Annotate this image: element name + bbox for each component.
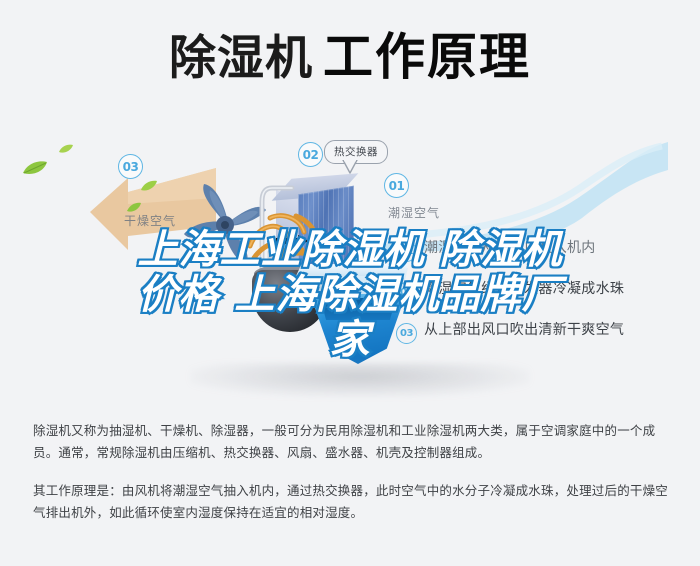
step-text: 潮湿空气经过蒸发器冷凝成水珠 xyxy=(424,281,624,299)
airflow-direction-arrow-icon xyxy=(276,234,308,246)
drip-pan-lip xyxy=(296,264,408,276)
water-tank-label: 水箱 xyxy=(318,324,398,339)
process-step: 01 潮湿空气从进风口吸入机内 xyxy=(396,240,696,262)
diagram-marker-03: 03 xyxy=(118,154,143,179)
page-title: 除湿机工作原理 xyxy=(0,32,700,82)
process-step: 03 从上部出风口吹出清新干爽空气 xyxy=(396,322,696,344)
humid-air-swoosh-icon xyxy=(372,140,672,252)
article-body: 除湿机又称为抽湿机、干燥机、除湿器，一般可分为民用除湿机和工业除湿机两大类，属于… xyxy=(33,420,673,524)
ground-shadow xyxy=(190,363,530,397)
process-step-list: 01 潮湿空气从进风口吸入机内 02 潮湿空气经过蒸发器冷凝成水珠 03 从上部… xyxy=(396,240,696,363)
body-paragraph-2: 其工作原理是：由风机将潮湿空气抽入机内，通过热交换器，此时空气中的水分子冷凝成水… xyxy=(33,480,673,524)
step-number-badge: 03 xyxy=(396,323,417,344)
diagram-marker-01: 01 xyxy=(384,173,409,198)
leaf-icon xyxy=(140,180,158,192)
step-number-badge: 01 xyxy=(396,241,417,262)
page-title-part2: 工作原理 xyxy=(323,29,531,85)
body-paragraph-1: 除湿机又称为抽湿机、干燥机、除湿器，一般可分为民用除湿机和工业除湿机两大类，属于… xyxy=(33,420,673,464)
step-text: 从上部出风口吹出清新干爽空气 xyxy=(424,322,624,340)
humid-air-label: 潮湿空气 xyxy=(388,204,440,221)
diagram-marker-02: 02 xyxy=(298,142,323,167)
leaf-icon xyxy=(22,160,48,176)
step-number-badge: 02 xyxy=(396,282,417,303)
leaf-icon xyxy=(58,144,74,154)
water-tank-opening xyxy=(320,298,396,320)
dry-air-label: 干燥空气 xyxy=(124,212,176,229)
step-text: 潮湿空气从进风口吸入机内 xyxy=(424,240,596,258)
page-title-part1: 除湿机 xyxy=(169,31,313,86)
callout-tail-icon xyxy=(342,160,358,174)
process-step: 02 潮湿空气经过蒸发器冷凝成水珠 xyxy=(396,281,696,303)
